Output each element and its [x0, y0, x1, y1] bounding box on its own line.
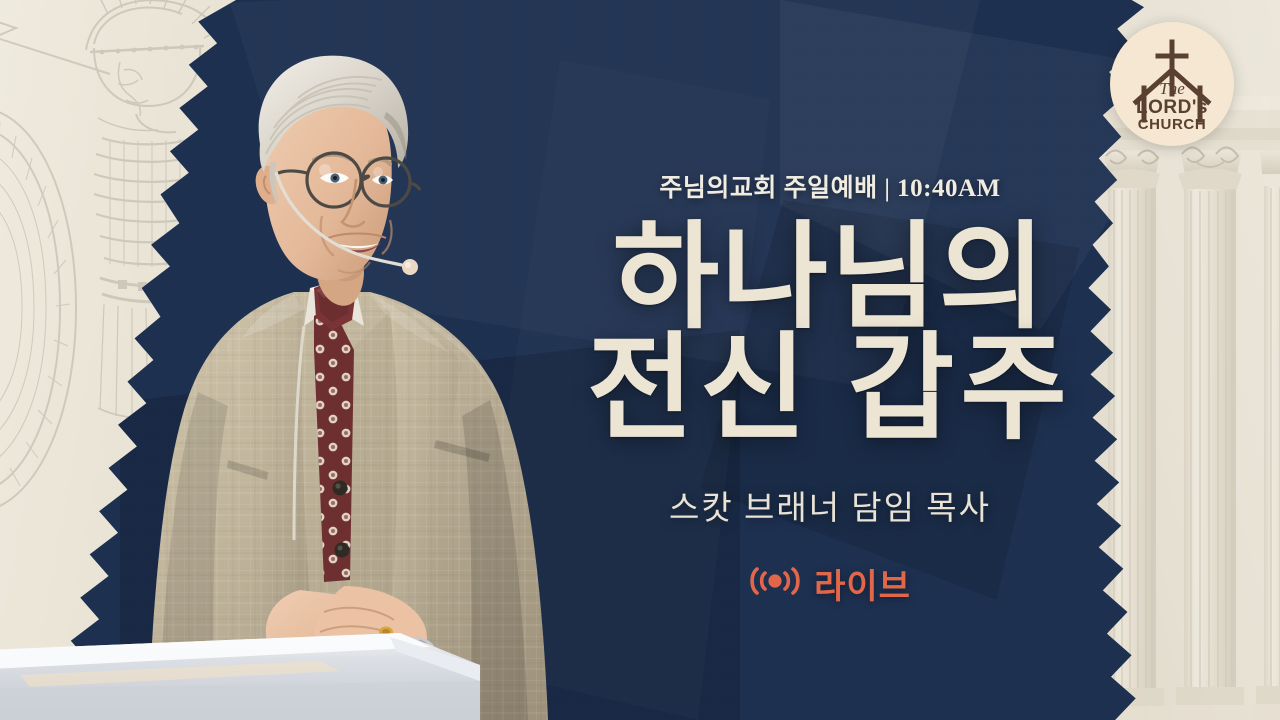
- logo-word-lords: LORD's: [1136, 97, 1208, 118]
- church-cross-icon: The LORD's CHURCH: [1116, 28, 1228, 140]
- speaker-name: 스캇 브래너 담임 목사: [669, 481, 991, 529]
- logo-script-word: The: [1159, 79, 1185, 98]
- overlay-text-column: 주님의교회 주일예배 | 10:40AM 하나님의 전신 갑주 스캇 브래너 담…: [505, 0, 1155, 720]
- sermon-title-line-2: 전신 갑주: [587, 335, 1073, 446]
- pulpit: [0, 625, 480, 720]
- sermon-title-line-1: 하나님의: [587, 224, 1073, 335]
- sermon-title: 하나님의 전신 갑주: [587, 224, 1073, 447]
- service-kicker: 주님의교회 주일예배 | 10:40AM: [659, 168, 1000, 204]
- church-logo[interactable]: The LORD's CHURCH: [1110, 22, 1234, 146]
- live-badge: 라이브: [749, 559, 911, 608]
- sermon-title-card: 주님의교회 주일예배 | 10:40AM 하나님의 전신 갑주 스캇 브래너 담…: [0, 0, 1280, 720]
- logo-word-church: CHURCH: [1138, 116, 1207, 133]
- broadcast-icon: [749, 564, 801, 603]
- live-label: 라이브: [814, 559, 911, 608]
